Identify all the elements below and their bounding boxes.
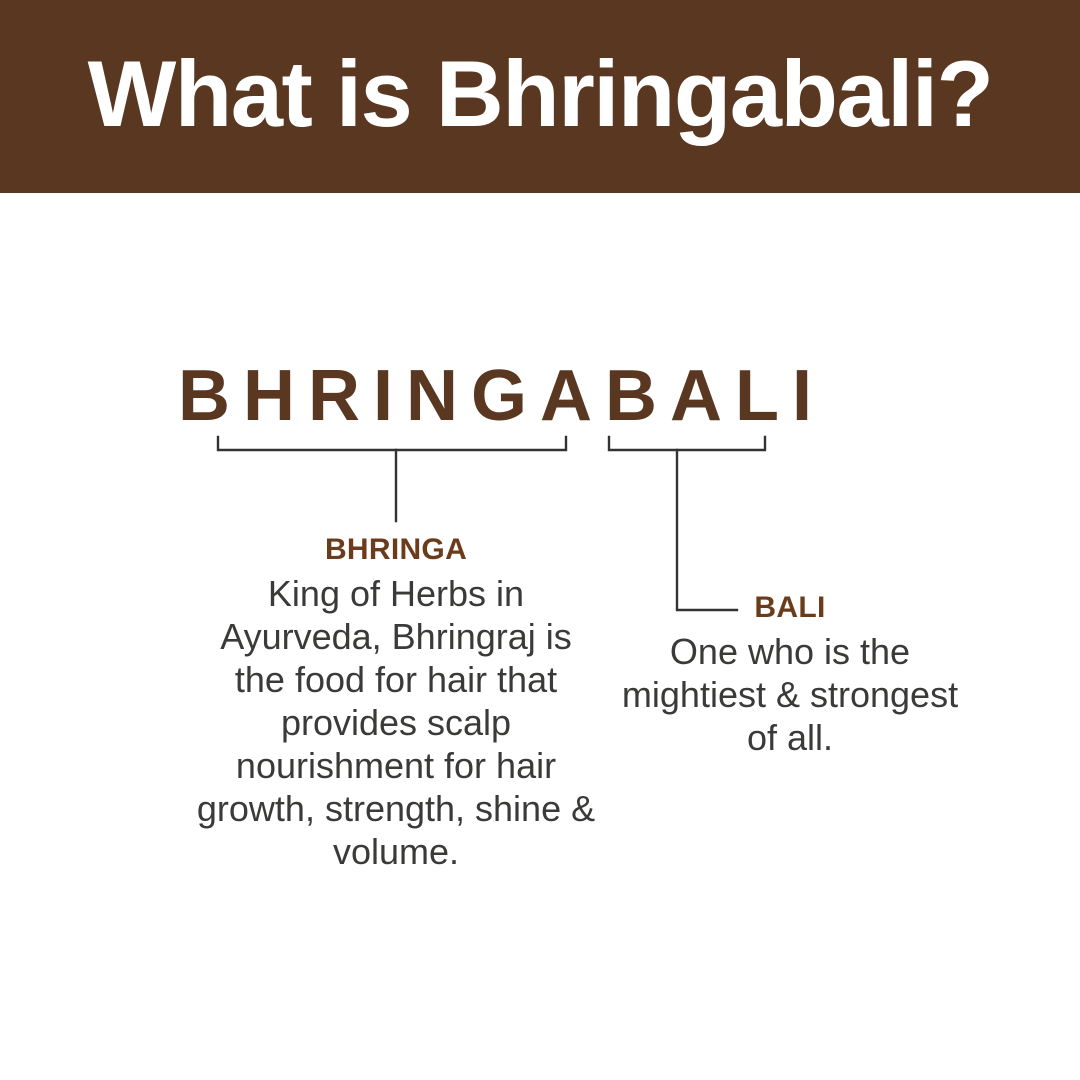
definition-term-bhringa: BHRINGA (196, 533, 596, 568)
header-band: What is Bhringabali? (0, 0, 1080, 193)
definition-block-bali: BALI One who is the mightiest & stronges… (620, 591, 960, 759)
definition-text-bali: One who is the mightiest & strongest of … (620, 630, 960, 759)
definition-term-bali: BALI (620, 591, 960, 626)
definition-text-bhringa: King of Herbs in Ayurveda, Bhringraj is … (196, 572, 596, 873)
infographic-canvas: What is Bhringabali? BHRINGABALI BHRINGA… (0, 0, 1080, 1080)
bracket-bhringa (218, 437, 566, 521)
definition-block-bhringa: BHRINGA King of Herbs in Ayurveda, Bhrin… (196, 533, 596, 873)
bracket-bali (609, 437, 765, 610)
hero-word-bhringabali: BHRINGABALI (0, 360, 1080, 432)
page-title: What is Bhringabali? (88, 47, 993, 147)
